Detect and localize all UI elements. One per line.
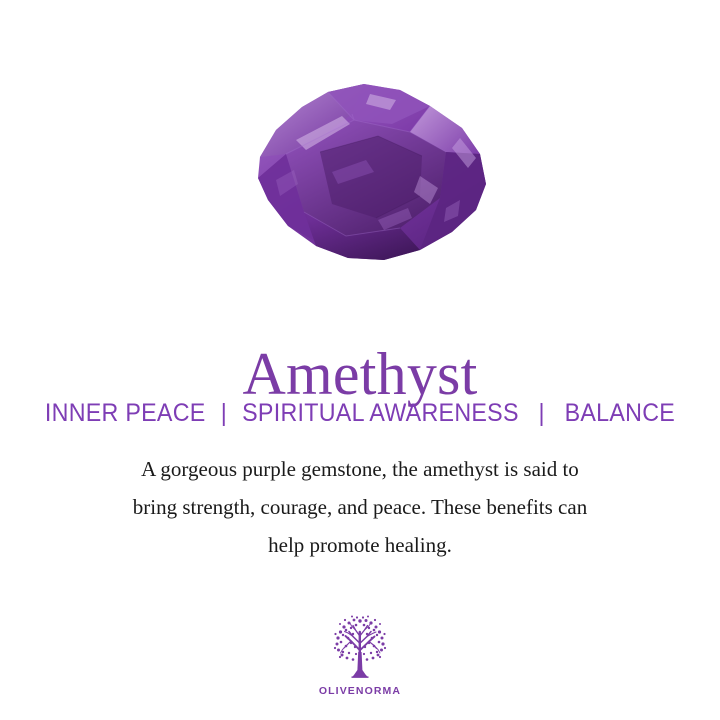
brand-name: OLIVENORMA	[319, 685, 401, 697]
keyword-inner-peace: INNER PEACE	[45, 399, 206, 427]
keyword-spiritual-awareness: SPIRITUAL AWARENESS	[242, 399, 519, 427]
page-title: Amethyst	[0, 343, 720, 405]
keyword-line: INNER PEACE | SPIRITUAL AWARENESS | BALA…	[25, 398, 695, 428]
description-text: A gorgeous purple gemstone, the amethyst…	[60, 450, 660, 564]
description-line-2: bring strength, courage, and peace. Thes…	[60, 488, 660, 526]
tree-of-life-icon	[324, 612, 396, 682]
keyword-separator-2: |	[525, 398, 557, 428]
keyword-balance: BALANCE	[565, 399, 675, 427]
amethyst-info-card: Amethyst INNER PEACE | SPIRITUAL AWARENE…	[0, 0, 720, 720]
keyword-separator-1: |	[212, 398, 235, 428]
brand-logo: OLIVENORMA	[0, 612, 720, 697]
amethyst-crystal-image	[224, 80, 492, 264]
description-line-1: A gorgeous purple gemstone, the amethyst…	[60, 450, 660, 488]
description-line-3: help promote healing.	[60, 526, 660, 564]
